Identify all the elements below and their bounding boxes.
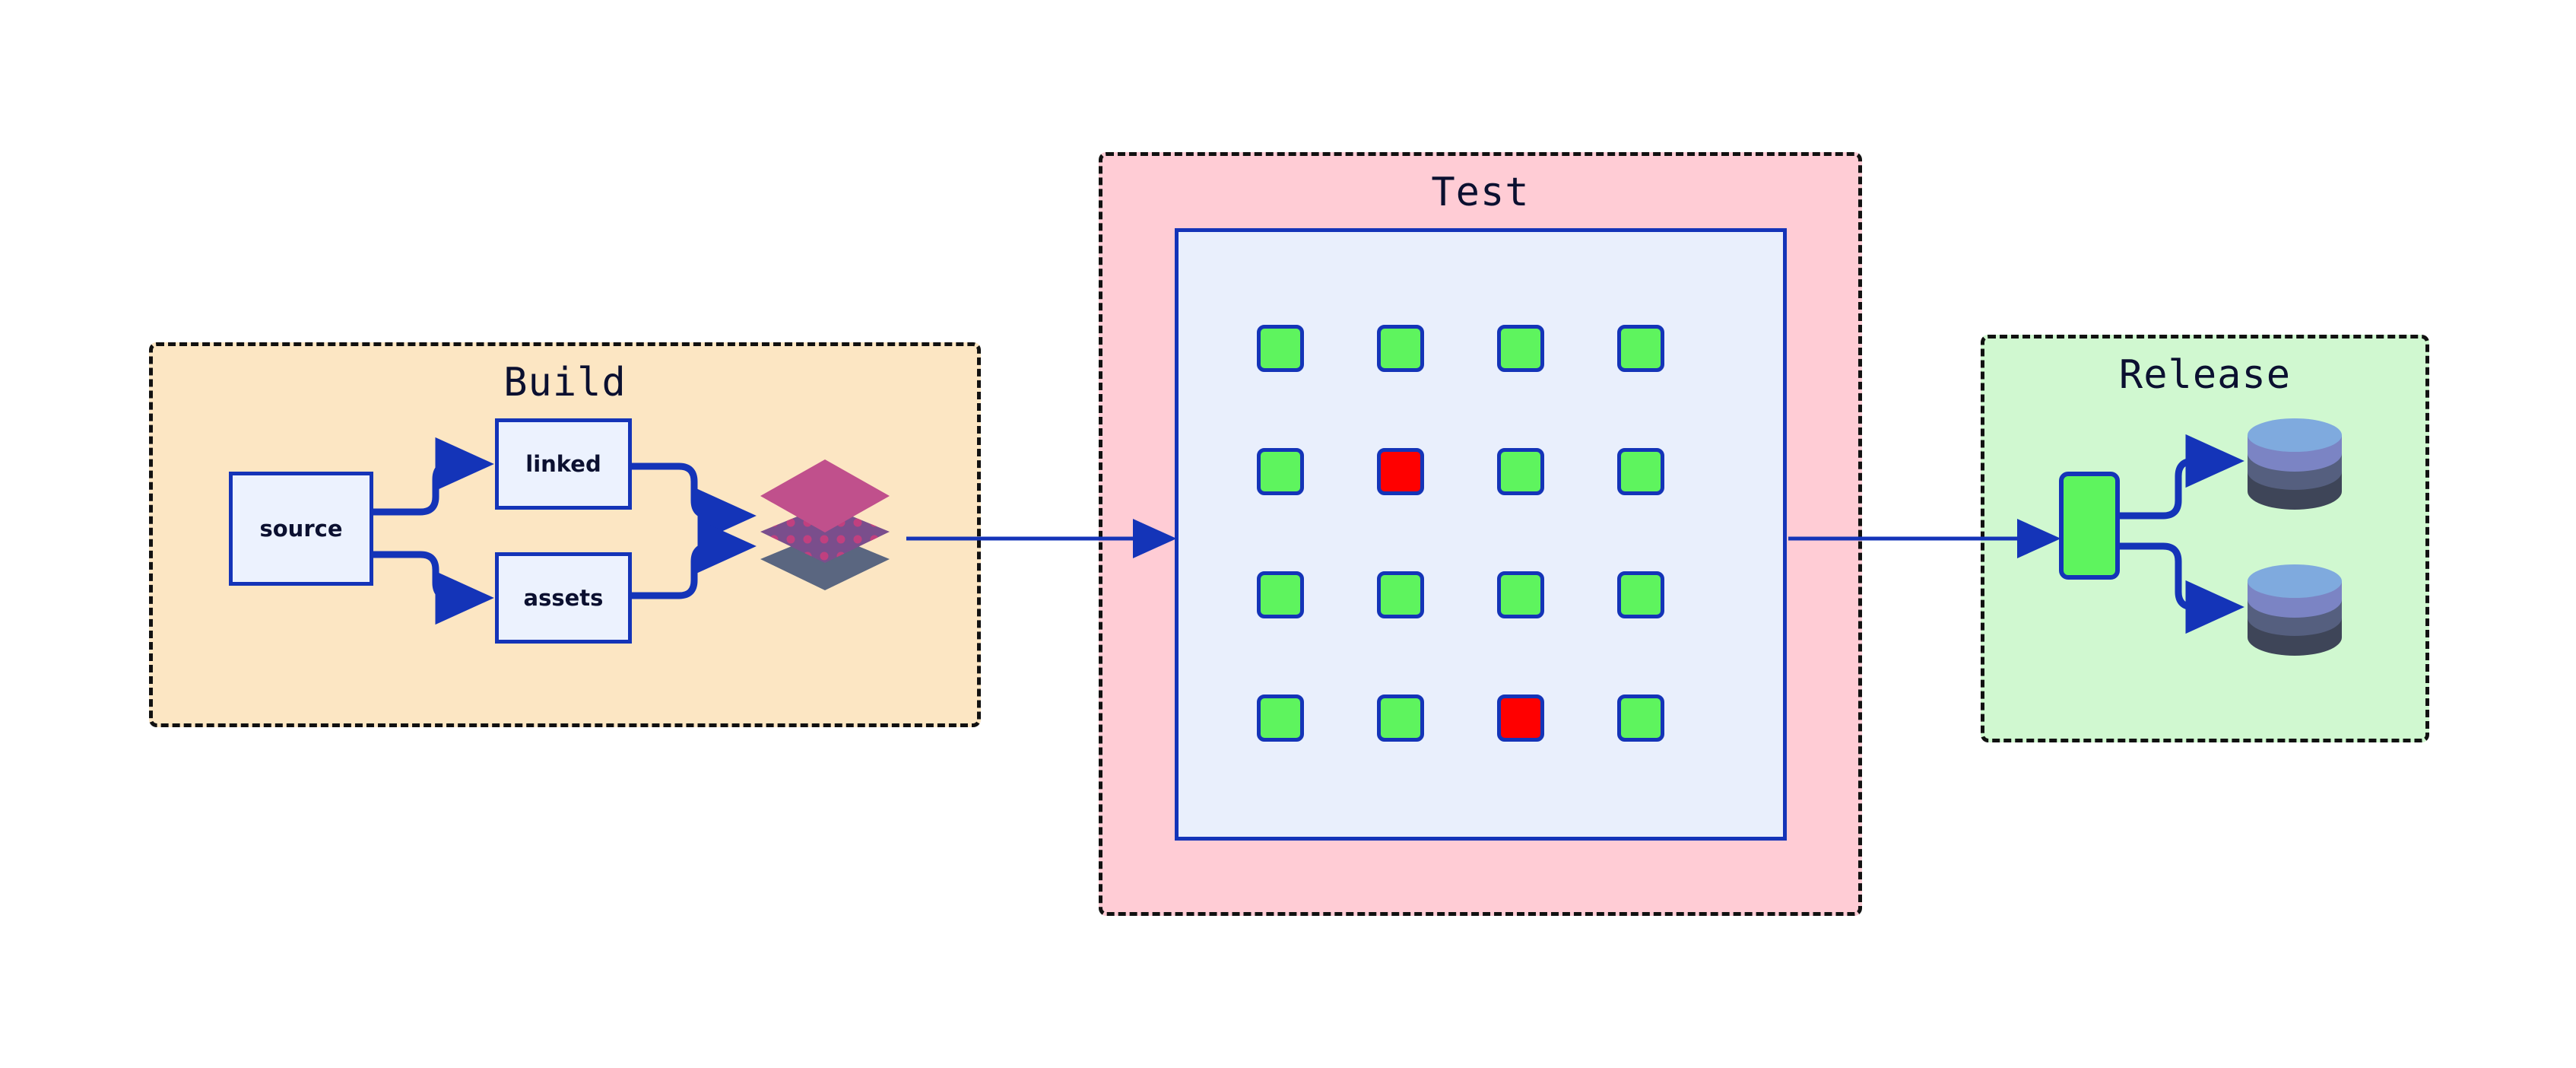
test-cell-r3c4[interactable] bbox=[1617, 571, 1664, 618]
stage-release[interactable]: Release bbox=[1981, 335, 2429, 742]
test-cell-r3c3[interactable] bbox=[1497, 571, 1544, 618]
db-top-ellipse bbox=[2248, 418, 2342, 452]
stage-build-title: Build bbox=[153, 360, 977, 405]
test-cell-r1c3[interactable] bbox=[1497, 325, 1544, 372]
node-linked-label: linked bbox=[525, 451, 601, 477]
test-results-grid bbox=[1257, 325, 1713, 751]
node-assets-label: assets bbox=[524, 585, 604, 611]
test-cell-r2c1[interactable] bbox=[1257, 448, 1304, 495]
node-linked[interactable]: linked bbox=[495, 418, 632, 510]
test-cell-r4c4[interactable] bbox=[1617, 695, 1664, 742]
test-cell-r2c4[interactable] bbox=[1617, 448, 1664, 495]
node-source[interactable]: source bbox=[229, 472, 373, 586]
node-release-artifact[interactable] bbox=[2059, 472, 2120, 580]
test-cell-r4c2[interactable] bbox=[1377, 695, 1424, 742]
stage-test-title: Test bbox=[1102, 170, 1858, 215]
test-cell-r1c4[interactable] bbox=[1617, 325, 1664, 372]
database-cylinder-icon-bottom[interactable] bbox=[2244, 563, 2345, 656]
test-cell-r4c1[interactable] bbox=[1257, 695, 1304, 742]
stacked-layers-icon[interactable] bbox=[749, 447, 901, 599]
test-cell-r2c3[interactable] bbox=[1497, 448, 1544, 495]
layer-top bbox=[760, 459, 890, 532]
node-assets[interactable]: assets bbox=[495, 552, 632, 644]
test-cell-r3c1[interactable] bbox=[1257, 571, 1304, 618]
test-cell-r1c1[interactable] bbox=[1257, 325, 1304, 372]
node-source-label: source bbox=[260, 516, 343, 542]
test-cell-r4c3[interactable] bbox=[1497, 695, 1544, 742]
stage-release-title: Release bbox=[1984, 352, 2425, 398]
test-results-panel bbox=[1175, 228, 1787, 841]
diagram-canvas: Build source linked assets Test bbox=[0, 0, 2576, 1068]
test-cell-r1c2[interactable] bbox=[1377, 325, 1424, 372]
database-cylinder-icon-top[interactable] bbox=[2244, 417, 2345, 510]
test-cell-r2c2[interactable] bbox=[1377, 448, 1424, 495]
test-cell-r3c2[interactable] bbox=[1377, 571, 1424, 618]
db-top-ellipse bbox=[2248, 564, 2342, 598]
